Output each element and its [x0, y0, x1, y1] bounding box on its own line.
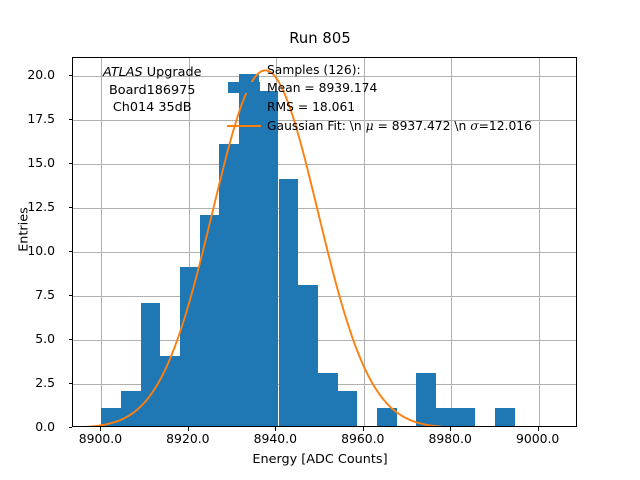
y-tick-mark: [69, 75, 73, 76]
legend-rms-label: RMS = 18.061: [263, 100, 355, 114]
legend-line-icon: [225, 116, 263, 135]
y-tick-mark: [69, 383, 73, 384]
y-tick-mark: [69, 339, 73, 340]
legend-samples-header: Samples (126):: [225, 63, 361, 77]
x-tick-mark: [188, 427, 189, 431]
x-tick-label: 8940.0: [240, 431, 310, 446]
atlas-label: ATLAS: [103, 65, 143, 80]
y-tick-label: 12.5: [0, 199, 55, 214]
x-tick-label: 8960.0: [328, 431, 398, 446]
x-tick-label: 9000.0: [503, 431, 573, 446]
legend-sigma-symbol: σ: [470, 119, 478, 133]
chart-legend: Samples (126): Mean = 8939.174 RMS = 18.…: [225, 62, 532, 135]
x-tick-label: 8980.0: [415, 431, 485, 446]
y-tick-label: 7.5: [0, 287, 55, 302]
x-tick-label: 8920.0: [153, 431, 223, 446]
legend-entry-rms: RMS = 18.061: [225, 97, 532, 116]
legend-header-row: Samples (126):: [225, 62, 532, 78]
legend-mu-symbol: μ: [366, 119, 374, 133]
y-tick-mark: [69, 207, 73, 208]
legend-mean-label: Mean = 8939.174: [263, 81, 377, 95]
y-tick-mark: [69, 163, 73, 164]
y-tick-mark: [69, 295, 73, 296]
y-tick-mark: [69, 251, 73, 252]
atlas-upgrade-label: Upgrade: [143, 65, 202, 80]
x-axis-label: Energy [ADC Counts]: [0, 452, 640, 467]
y-tick-mark: [69, 119, 73, 120]
y-tick-label: 20.0: [0, 67, 55, 82]
legend-mu-value: = 8937.472 \n: [374, 119, 471, 133]
x-tick-mark: [363, 427, 364, 431]
y-tick-label: 2.5: [0, 375, 55, 390]
legend-entry-samples[interactable]: Mean = 8939.174: [225, 78, 532, 97]
figure-canvas: Run 805 ATLAS Upgrade Board186975 Ch014 …: [0, 0, 640, 480]
board-label: Board186975: [103, 82, 201, 100]
x-tick-mark: [538, 427, 539, 431]
y-tick-label: 10.0: [0, 243, 55, 258]
legend-entry-gaussian-fit[interactable]: Gaussian Fit: \n μ = 8937.472 \n σ=12.01…: [225, 116, 532, 135]
x-tick-label: 8900.0: [65, 431, 135, 446]
legend-key-spacer: [225, 97, 263, 116]
legend-patch-icon: [225, 78, 263, 97]
x-tick-mark: [275, 427, 276, 431]
chart-title: Run 805: [0, 30, 640, 47]
x-tick-mark: [450, 427, 451, 431]
y-tick-mark: [69, 427, 73, 428]
legend-fit-prefix: Gaussian Fit: \n: [267, 119, 366, 133]
atlas-annotation: ATLAS Upgrade Board186975 Ch014 35dB: [103, 64, 201, 117]
y-axis-label: Entries: [17, 110, 32, 350]
y-tick-label: 17.5: [0, 111, 55, 126]
y-tick-label: 5.0: [0, 331, 55, 346]
legend-fit-label: Gaussian Fit: \n μ = 8937.472 \n σ=12.01…: [263, 119, 532, 133]
legend-sigma-value: =12.016: [479, 119, 532, 133]
y-tick-label: 15.0: [0, 155, 55, 170]
x-tick-mark: [100, 427, 101, 431]
plot-axes: ATLAS Upgrade Board186975 Ch014 35dB Sam…: [72, 57, 577, 427]
channel-label: Ch014 35dB: [103, 99, 201, 117]
y-tick-label: 0.0: [0, 419, 55, 434]
